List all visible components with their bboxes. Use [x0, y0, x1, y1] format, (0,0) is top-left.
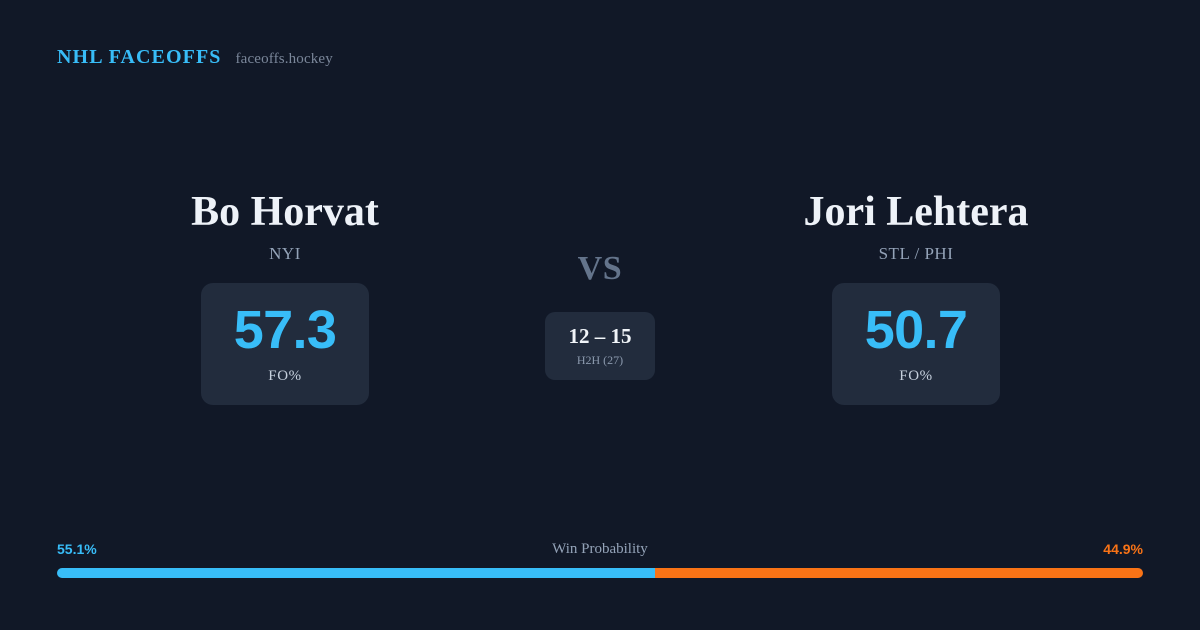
- faceoff-pct-label-left: FO%: [268, 368, 301, 385]
- faceoff-stat-card-left: 57.3 FO%: [201, 283, 369, 405]
- player-name-right: Jori Lehtera: [803, 190, 1028, 235]
- head-to-head-sublabel: H2H (27): [577, 354, 623, 366]
- faceoff-pct-value-left: 57.3: [234, 303, 337, 357]
- player-name-left: Bo Horvat: [191, 190, 379, 235]
- player-panel-left: Bo Horvat NYI 57.3 FO%: [65, 190, 505, 405]
- brand-domain-label: faceoffs.hockey: [236, 52, 333, 67]
- head-to-head-record: 12 – 15: [569, 326, 632, 347]
- player-team-left: NYI: [269, 244, 301, 264]
- win-probability-right-pct: 44.9%: [1103, 540, 1143, 558]
- matchup-row: Bo Horvat NYI 57.3 FO% VS 12 – 15 H2H (2…: [0, 190, 1200, 430]
- win-probability-bar-left-fill: [57, 568, 655, 578]
- faceoff-pct-value-right: 50.7: [865, 303, 968, 357]
- versus-label: VS: [578, 252, 623, 286]
- win-probability-labels: 55.1% Win Probability 44.9%: [57, 540, 1143, 558]
- faceoff-matchup-card: NHL FACEOFFS faceoffs.hockey Bo Horvat N…: [0, 0, 1200, 630]
- brand-header: NHL FACEOFFS faceoffs.hockey: [57, 47, 333, 67]
- brand-title: NHL FACEOFFS: [57, 47, 222, 67]
- versus-panel: VS 12 – 15 H2H (27): [480, 190, 720, 380]
- faceoff-pct-label-right: FO%: [899, 368, 932, 385]
- win-probability-bar-right-fill: [655, 568, 1143, 578]
- player-panel-right: Jori Lehtera STL / PHI 50.7 FO%: [696, 190, 1136, 405]
- faceoff-stat-card-right: 50.7 FO%: [832, 283, 1000, 405]
- player-team-right: STL / PHI: [879, 244, 954, 264]
- win-probability-section: 55.1% Win Probability 44.9%: [57, 540, 1143, 578]
- win-probability-title: Win Probability: [57, 540, 1143, 558]
- head-to-head-card: 12 – 15 H2H (27): [545, 312, 655, 380]
- win-probability-bar: [57, 568, 1143, 578]
